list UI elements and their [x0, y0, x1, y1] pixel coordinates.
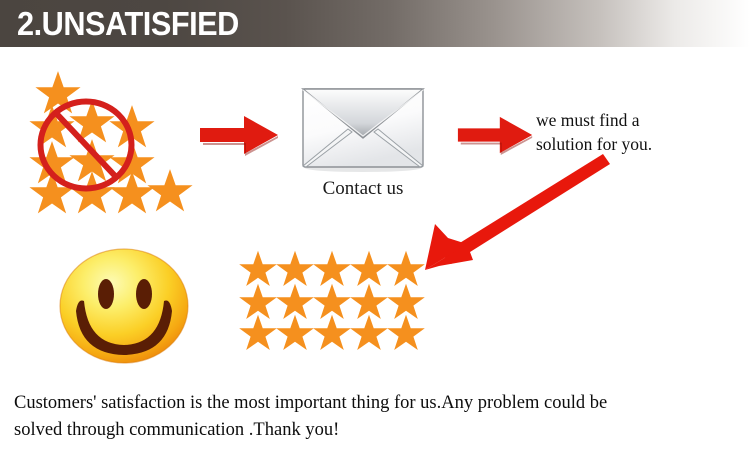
unsatisfied-star-cluster [0, 0, 200, 220]
star-cluster-svg [0, 0, 200, 220]
star-icon-group [239, 251, 425, 350]
star-grid-svg [236, 250, 426, 352]
caption-line-2: solved through communication .Thank you! [14, 417, 724, 444]
caption-line-1: Customers' satisfaction is the most impo… [14, 390, 724, 417]
arrow-down-left-icon [415, 150, 610, 280]
smiley-svg [58, 248, 190, 364]
satisfied-star-grid [236, 250, 426, 352]
envelope-svg [300, 86, 426, 172]
star-icon-group [29, 71, 192, 213]
contact-us-label: Contact us [300, 178, 426, 200]
note-line-1: we must find a [536, 108, 736, 132]
envelope-icon [300, 86, 426, 172]
slide-canvas: 2.UNSATISFIED [0, 0, 750, 453]
smiley-face-icon [58, 248, 190, 364]
caption-text: Customers' satisfaction is the most impo… [14, 390, 724, 444]
note-text: we must find a solution for you. [536, 108, 736, 156]
arrow-right-icon [198, 112, 282, 158]
